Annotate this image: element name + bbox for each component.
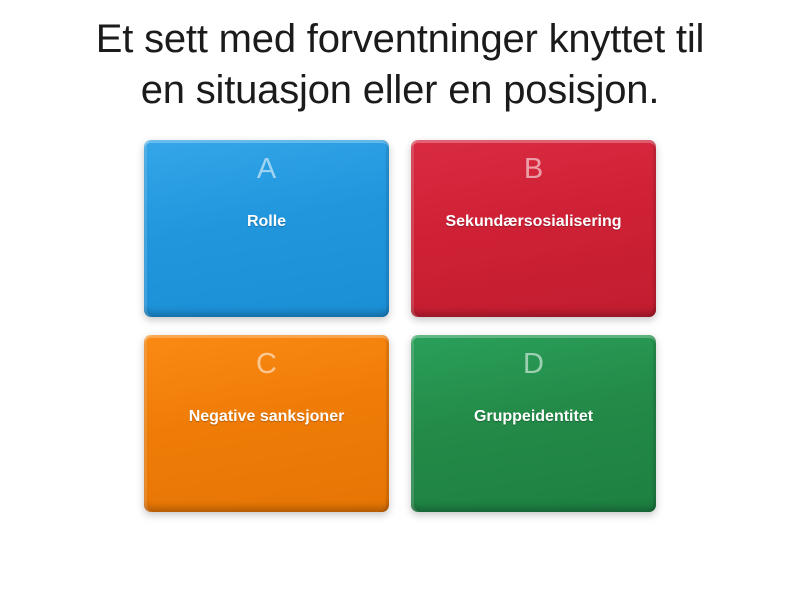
answer-label-a: Rolle — [144, 211, 389, 232]
quiz-screen: Et sett med forventninger knyttet til en… — [0, 0, 800, 600]
answer-card-d[interactable]: D Gruppeidentitet — [411, 335, 656, 512]
answer-letter-d: D — [523, 348, 544, 380]
answer-label-c: Negative sanksjoner — [144, 406, 389, 427]
question-area: Et sett med forventninger knyttet til en… — [80, 14, 720, 116]
question-text: Et sett med forventninger knyttet til en… — [80, 14, 720, 116]
answer-card-b[interactable]: B Sekundærsosialisering — [411, 140, 656, 317]
answer-label-d: Gruppeidentitet — [411, 406, 656, 427]
answer-options-grid: A Rolle B Sekundærsosialisering C Negati… — [144, 140, 656, 512]
answer-letter-b: B — [524, 153, 543, 185]
answer-label-b: Sekundærsosialisering — [411, 211, 656, 232]
answer-card-c[interactable]: C Negative sanksjoner — [144, 335, 389, 512]
answer-letter-c: C — [256, 348, 277, 380]
answer-letter-a: A — [257, 153, 276, 185]
answer-card-a[interactable]: A Rolle — [144, 140, 389, 317]
